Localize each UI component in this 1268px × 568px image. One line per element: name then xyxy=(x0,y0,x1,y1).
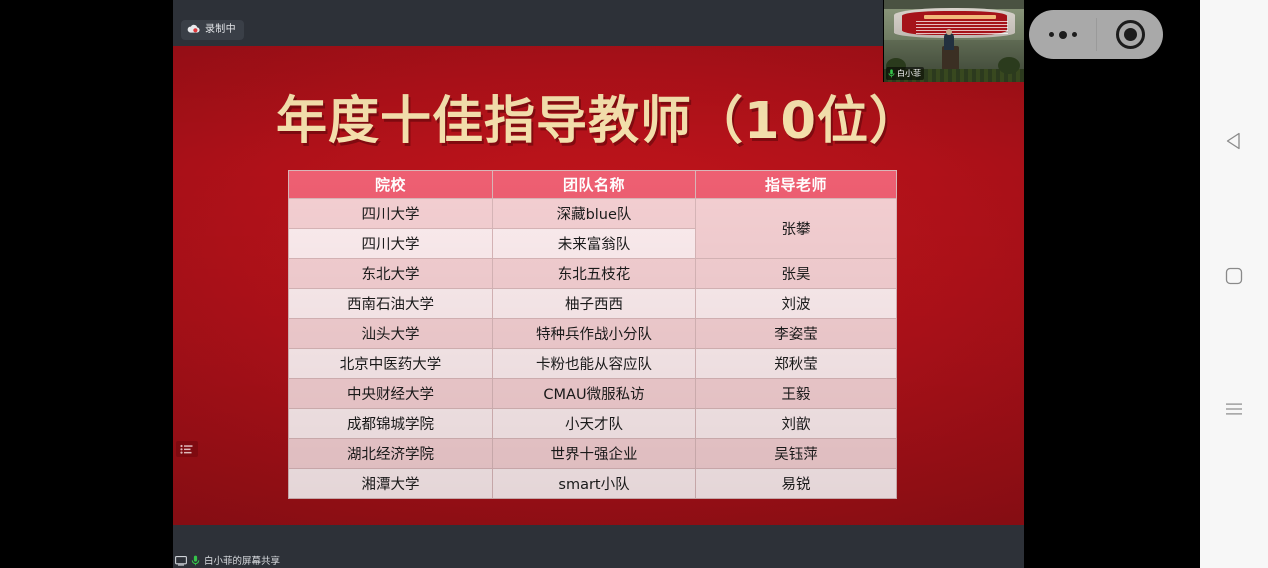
cell-school: 四川大学 xyxy=(289,229,492,258)
back-triangle-icon xyxy=(1223,130,1245,157)
table-row: 四川大学深藏blue队张攀 xyxy=(289,199,896,228)
dot-3 xyxy=(1072,32,1077,37)
microphone-icon xyxy=(191,553,200,568)
column-header-school: 院校 xyxy=(289,171,492,198)
nav-home-button[interactable] xyxy=(1200,265,1268,292)
shared-slide: 年度十佳指导教师（10位） 院校 团队名称 指导老师 四川大学深藏blue队张攀… xyxy=(173,46,1024,525)
cell-team: CMAU微服私访 xyxy=(493,379,695,408)
projected-slide xyxy=(902,11,1007,35)
floating-control-pill[interactable] xyxy=(1029,10,1163,59)
record-core xyxy=(1124,28,1137,41)
cell-teacher: 王毅 xyxy=(696,379,896,408)
cell-school: 西南石油大学 xyxy=(289,289,492,318)
three-dots-icon[interactable] xyxy=(1029,31,1096,39)
award-table-wrapper: 院校 团队名称 指导老师 四川大学深藏blue队张攀四川大学未来富翁队东北大学东… xyxy=(288,170,895,499)
cell-teacher: 刘波 xyxy=(696,289,896,318)
android-nav-rail xyxy=(1200,0,1268,568)
cell-school: 成都锦城学院 xyxy=(289,409,492,438)
cell-school: 北京中医药大学 xyxy=(289,349,492,378)
projected-slide-table xyxy=(916,21,1008,35)
recording-badge[interactable]: 录制中 xyxy=(181,20,244,40)
screen-share-label: 白小菲的屏幕共享 xyxy=(204,557,280,567)
letterbox-right xyxy=(1024,0,1200,568)
cloud-record-icon xyxy=(187,21,200,39)
participant-name-bar: 白小菲 xyxy=(886,67,924,80)
nav-menu-button[interactable] xyxy=(1200,400,1268,423)
cell-teacher: 郑秋莹 xyxy=(696,349,896,378)
award-table: 院校 团队名称 指导老师 四川大学深藏blue队张攀四川大学未来富翁队东北大学东… xyxy=(288,170,897,499)
menu-lines-icon xyxy=(1223,400,1245,423)
table-row: 东北大学东北五枝花张昊 xyxy=(289,259,896,288)
cell-team: 深藏blue队 xyxy=(493,199,695,228)
cell-school: 四川大学 xyxy=(289,199,492,228)
bush-right xyxy=(998,57,1020,74)
presenter-body xyxy=(944,33,954,50)
award-table-body: 四川大学深藏blue队张攀四川大学未来富翁队东北大学东北五枝花张昊西南石油大学柚… xyxy=(289,199,896,498)
dot-1 xyxy=(1049,32,1054,37)
stage-projection-screen xyxy=(894,8,1015,38)
table-row: 西南石油大学柚子西西刘波 xyxy=(289,289,896,318)
column-header-team: 团队名称 xyxy=(493,171,695,198)
cell-teacher: 李姿莹 xyxy=(696,319,896,348)
table-row: 汕头大学特种兵作战小分队李姿莹 xyxy=(289,319,896,348)
dot-2 xyxy=(1059,31,1067,39)
selfview-video-tile[interactable]: 白小菲 xyxy=(883,0,1024,82)
cell-teacher: 张昊 xyxy=(696,259,896,288)
cell-school: 中央财经大学 xyxy=(289,379,492,408)
cell-team: smart小队 xyxy=(493,469,695,498)
table-row: 北京中医药大学卡粉也能从容应队郑秋莹 xyxy=(289,349,896,378)
list-outline-icon[interactable] xyxy=(176,441,198,457)
cell-school: 湘潭大学 xyxy=(289,469,492,498)
projected-slide-title xyxy=(924,15,996,19)
app-bottom-bar: 白小菲的屏幕共享 xyxy=(173,525,1024,568)
cell-school: 汕头大学 xyxy=(289,319,492,348)
cell-teacher: 张攀 xyxy=(696,199,896,258)
nav-back-button[interactable] xyxy=(1200,130,1268,157)
cell-team: 特种兵作战小分队 xyxy=(493,319,695,348)
cell-school: 湖北经济学院 xyxy=(289,439,492,468)
microphone-icon xyxy=(888,65,895,83)
cell-team: 世界十强企业 xyxy=(493,439,695,468)
screen-share-icon xyxy=(175,553,187,568)
screen-share-status[interactable]: 白小菲的屏幕共享 xyxy=(175,553,280,568)
table-header-row: 院校 团队名称 指导老师 xyxy=(289,171,896,198)
table-row: 中央财经大学CMAU微服私访王毅 xyxy=(289,379,896,408)
home-square-icon xyxy=(1223,265,1245,292)
presenter-head xyxy=(946,29,952,35)
screen-root: 录制中 年度十佳指导教师（10位） 院校 团队名称 指导老师 xyxy=(0,0,1268,568)
cell-teacher: 易锐 xyxy=(696,469,896,498)
cell-team: 卡粉也能从容应队 xyxy=(493,349,695,378)
recording-label: 录制中 xyxy=(205,25,236,35)
column-header-teacher: 指导老师 xyxy=(696,171,896,198)
table-row: 湘潭大学smart小队易锐 xyxy=(289,469,896,498)
record-ring xyxy=(1116,20,1145,49)
table-row: 成都锦城学院小天才队刘歆 xyxy=(289,409,896,438)
cell-team: 柚子西西 xyxy=(493,289,695,318)
cell-team: 东北五枝花 xyxy=(493,259,695,288)
cell-team: 未来富翁队 xyxy=(493,229,695,258)
slide-title: 年度十佳指导教师（10位） xyxy=(173,79,1024,153)
letterbox-left xyxy=(0,0,173,568)
cell-school: 东北大学 xyxy=(289,259,492,288)
record-button-icon[interactable] xyxy=(1097,20,1163,49)
participant-name: 白小菲 xyxy=(897,70,921,78)
meeting-app-frame: 录制中 年度十佳指导教师（10位） 院校 团队名称 指导老师 xyxy=(173,0,1024,568)
cell-teacher: 刘歆 xyxy=(696,409,896,438)
cell-teacher: 吴钰萍 xyxy=(696,439,896,468)
cell-team: 小天才队 xyxy=(493,409,695,438)
table-row: 湖北经济学院世界十强企业吴钰萍 xyxy=(289,439,896,468)
